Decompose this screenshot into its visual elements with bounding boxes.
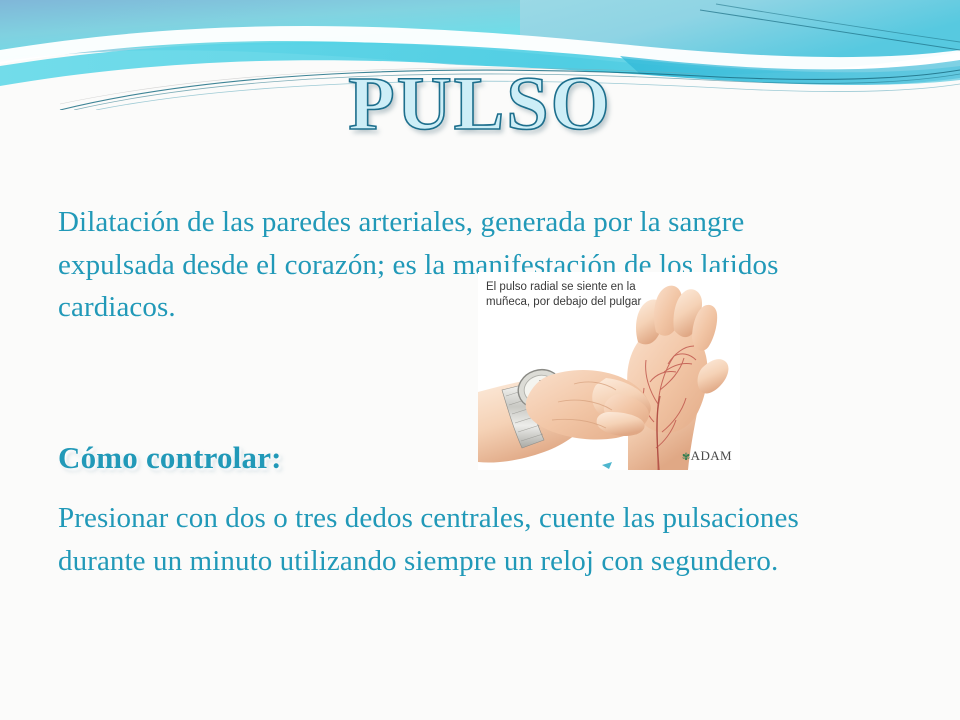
paragraph-how-to: Presionar con dos o tres dedos centrales… xyxy=(58,497,838,582)
title-block: PULSO xyxy=(0,66,960,142)
illustration-caption: El pulso radial se siente en la muñeca, … xyxy=(486,280,656,310)
presentation-slide: PULSO Dilatación de las paredes arterial… xyxy=(0,0,960,720)
page-title: PULSO xyxy=(348,66,611,142)
adam-watermark: ✾ADAM xyxy=(682,448,732,464)
subheading-how-to-control: Cómo controlar: xyxy=(58,440,282,476)
watermark-text: ADAM xyxy=(691,448,732,463)
radial-pulse-illustration: El pulso radial se siente en la muñeca, … xyxy=(478,272,740,470)
leaf-icon: ✾ xyxy=(682,452,691,463)
